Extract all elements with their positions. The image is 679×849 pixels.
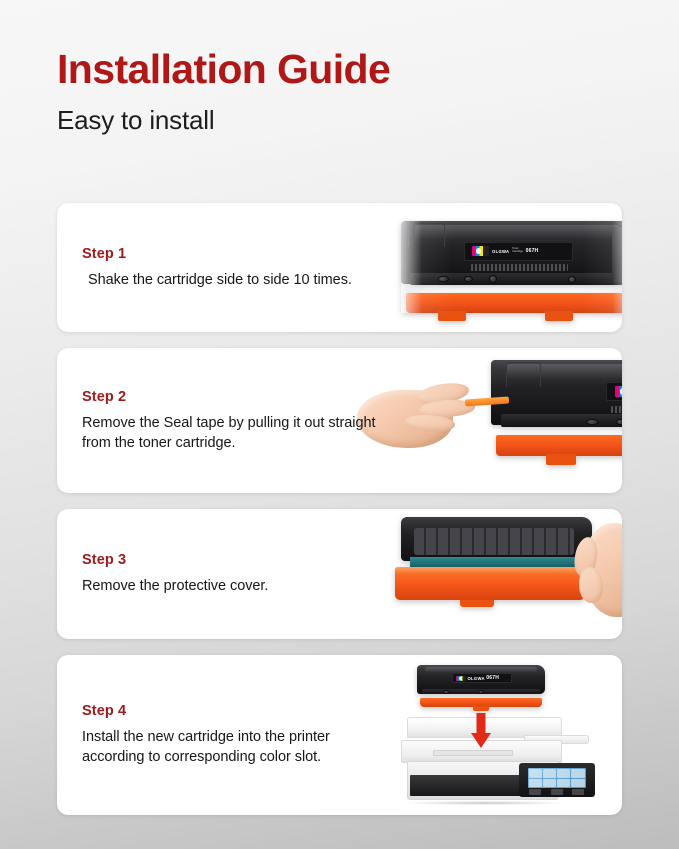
step-2-text: Step 2 Remove the Seal tape by pulling i… [57, 389, 387, 453]
cartridge-label: OLGWA Toner Cartridge 067H [464, 242, 573, 260]
step-3-description: Remove the protective cover. [82, 576, 387, 596]
step-3-figure [387, 509, 622, 639]
step-2-description: Remove the Seal tape by pulling it out s… [82, 413, 387, 453]
toner-cartridge-icon: OLGWA Toner Cartridge 067H [491, 360, 622, 456]
printer-button[interactable] [551, 789, 563, 794]
arrow-down-icon [471, 713, 491, 749]
cartridge-type: Toner Cartridge [512, 248, 523, 254]
step-2-label: Step 2 [82, 389, 387, 405]
step-1-label: Step 1 [82, 246, 387, 262]
cmyk-swatch-icon [615, 386, 623, 397]
cmyk-swatch-icon [472, 246, 490, 256]
page-subtitle: Easy to install [57, 105, 617, 136]
step-2-figure: OLGWA Toner Cartridge 067H [387, 348, 622, 493]
cartridge-model: 067H [486, 675, 499, 681]
step-4-description: Install the new cartridge into the print… [82, 727, 387, 767]
printer-icon [399, 717, 589, 805]
step-card-4: Step 4 Install the new cartridge into th… [57, 655, 622, 815]
step-4-figure: OLGWA 067H [387, 655, 622, 815]
cartridge-label: OLGWA 067H [452, 673, 512, 683]
printer-button[interactable] [572, 789, 584, 794]
steps-list: Step 1 Shake the cartridge side to side … [57, 203, 622, 815]
printer-control-panel[interactable] [519, 763, 595, 797]
cartridge-brand: OLGWA [467, 676, 484, 681]
page-header: Installation Guide Easy to install [57, 48, 617, 136]
step-card-3: Step 3 Remove the protective cover. [57, 509, 622, 639]
step-1-figure: OLGWA Toner Cartridge 067H [387, 203, 622, 332]
step-card-1: Step 1 Shake the cartridge side to side … [57, 203, 622, 332]
toner-cartridge-icon: OLGWA 067H [417, 665, 545, 707]
cmyk-swatch-icon [456, 676, 466, 681]
page-title: Installation Guide [57, 48, 617, 91]
printer-button[interactable] [529, 789, 541, 794]
step-4-text: Step 4 Install the new cartridge into th… [57, 703, 387, 767]
step-1-text: Step 1 Shake the cartridge side to side … [57, 246, 387, 290]
step-card-2: Step 2 Remove the Seal tape by pulling i… [57, 348, 622, 493]
toner-cartridge-icon: OLGWA Toner Cartridge 067H [401, 221, 622, 313]
cartridge-brand: OLGWA [492, 249, 509, 254]
step-3-text: Step 3 Remove the protective cover. [57, 552, 387, 596]
printer-touchscreen[interactable] [528, 768, 586, 788]
step-4-label: Step 4 [82, 703, 387, 719]
step-3-label: Step 3 [82, 552, 387, 568]
cartridge-label: OLGWA Toner Cartridge 067H [606, 382, 622, 401]
step-1-description: Shake the cartridge side to side 10 time… [82, 270, 387, 290]
cartridge-model: 067H [526, 248, 539, 254]
